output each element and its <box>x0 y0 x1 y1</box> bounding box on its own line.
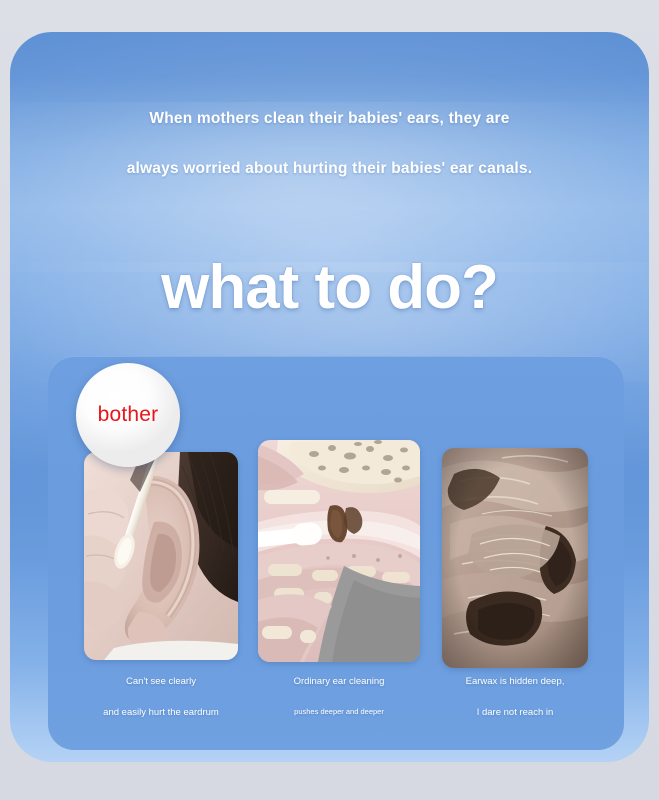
caption-3-line-2: I dare not reach in <box>432 707 598 718</box>
headline-line-2: always worried about hurting their babie… <box>10 144 649 194</box>
otoscope-earwax-closeup-photo <box>442 448 588 668</box>
bother-badge-label: bother <box>98 403 159 427</box>
baby-ear-cotton-swab-photo <box>84 452 238 660</box>
caption-panel-2: Ordinary ear cleaning pushes deeper and … <box>248 676 430 716</box>
caption-panel-3: Earwax is hidden deep, I dare not reach … <box>432 676 598 718</box>
poster-page: When mothers clean their babies' ears, t… <box>0 0 659 800</box>
headline-line-1: When mothers clean their babies' ears, t… <box>10 94 649 144</box>
promo-card: When mothers clean their babies' ears, t… <box>10 32 649 762</box>
big-question-text: what to do? <box>10 248 649 328</box>
caption-1-line-2: and easily hurt the eardrum <box>74 707 248 718</box>
headline: When mothers clean their babies' ears, t… <box>10 94 649 194</box>
bother-badge: bother <box>76 363 180 467</box>
caption-1-line-1: Can't see clearly <box>74 676 248 687</box>
caption-3-line-1: Earwax is hidden deep, <box>432 676 598 687</box>
caption-2-line-2: pushes deeper and deeper <box>248 707 430 716</box>
caption-2-line-1: Ordinary ear cleaning <box>248 676 430 687</box>
ear-canal-cross-section-illustration <box>258 440 420 662</box>
caption-panel-1: Can't see clearly and easily hurt the ea… <box>74 676 248 718</box>
